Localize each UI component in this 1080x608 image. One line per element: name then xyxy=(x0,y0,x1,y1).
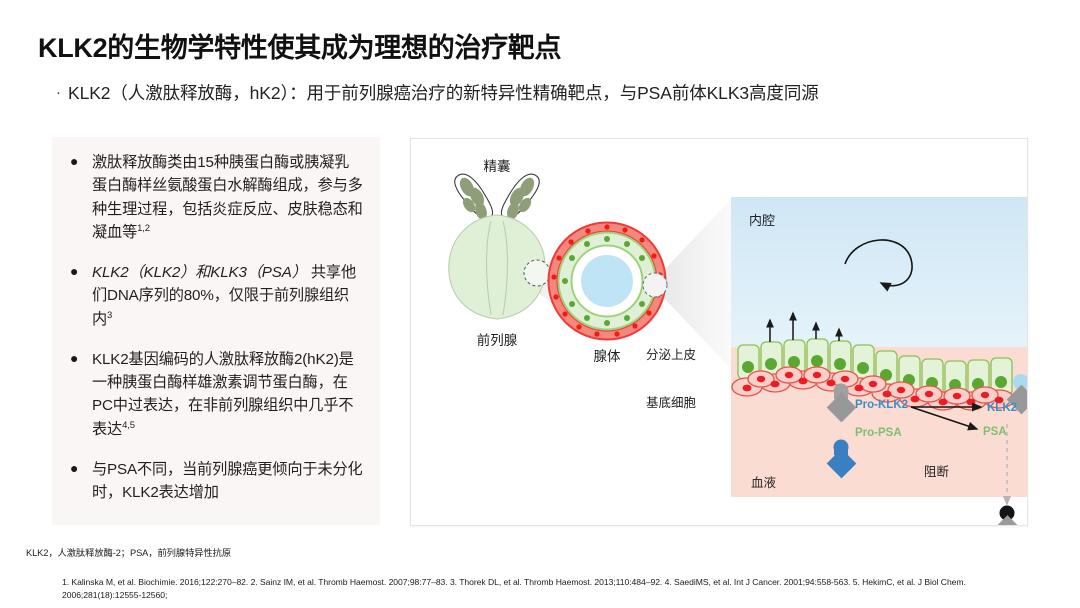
label-gland: 腺体 xyxy=(594,349,622,364)
bullet-text-hk2-expression: KLK2基因编码的人激肽释放酶2(hK2)是一种胰蛋白酶样雄激素调节蛋白酶，在P… xyxy=(92,351,354,438)
label-seminal-vesicle: 精囊 xyxy=(484,158,511,174)
bullet-marker-icon: ● xyxy=(70,151,78,173)
bullet-marker-icon: ● xyxy=(70,458,78,480)
list-item: ● KLK2基因编码的人激肽释放酶2(hK2)是一种胰蛋白酶样雄激素调节蛋白酶，… xyxy=(62,348,364,441)
list-item: ● 与PSA不同，当前列腺癌更倾向于未分化时，KLK2表达增加 xyxy=(62,458,364,505)
subtitle-bullet-row: · KLK2（人激肽释放酶，hK2）：用于前列腺癌治疗的新特异性精确靶点，与PS… xyxy=(56,80,819,105)
prostate-zoom-locator xyxy=(524,260,550,286)
label-prostate: 前列腺 xyxy=(477,332,518,348)
gland-cross-section xyxy=(551,224,667,336)
label-blood: 血液 xyxy=(751,475,777,490)
bullet-dot-icon: · xyxy=(56,85,61,100)
prostate-biology-diagram: 精囊 前列腺 腺体 内腔 Pro-KLK2 Pro-PSA KLK2 PSA 分… xyxy=(410,138,1028,526)
list-item: ● 激肽释放酶类由15种胰蛋白酶或胰凝乳蛋白酶样丝氨酸蛋白水解酶组成，参与多种生… xyxy=(62,151,364,244)
abbreviations-note: KLK2，人激肽释放酶-2；PSA，前列腺特异性抗原 xyxy=(26,545,231,559)
bullet-marker-icon: ● xyxy=(70,261,78,283)
klk2-in-blood-molecule xyxy=(994,506,1021,526)
label-blocked: 阻断 xyxy=(924,464,949,479)
bullet-text-klk2-vs-psa: 与PSA不同，当前列腺癌更倾向于未分化时，KLK2表达增加 xyxy=(92,461,363,501)
seminal-vesicle-illustration xyxy=(455,174,540,221)
label-basal-cells: 基底细胞 xyxy=(646,395,697,410)
gland-zoom-locator xyxy=(643,273,667,297)
label-pro-psa: Pro-PSA xyxy=(855,427,902,439)
label-secretory-epithelium: 分泌上皮 xyxy=(646,348,696,362)
label-pro-klk2: Pro-KLK2 xyxy=(855,399,908,411)
label-psa: PSA xyxy=(983,426,1007,438)
label-lumen: 内腔 xyxy=(749,213,775,228)
references-note: 1. Kalinska M, et al. Biochimie. 2016;12… xyxy=(62,576,1022,602)
bullet-text-kallikrein-family: 激肽释放酶类由15种胰蛋白酶或胰凝乳蛋白酶样丝氨酸蛋白水解酶组成，参与多种生理过… xyxy=(92,154,363,241)
prostate-illustration xyxy=(449,215,550,319)
diagram-svg: 精囊 前列腺 腺体 内腔 Pro-KLK2 Pro-PSA KLK2 PSA 分… xyxy=(411,139,1027,525)
page-title: KLK2的生物学特性使其成为理想的治疗靶点 xyxy=(38,26,561,65)
list-item: ● KLK2（KLK2）和KLK3（PSA） 共享他们DNA序列的80%，仅限于… xyxy=(62,261,364,331)
bullet-text-klk2-klk3-homology: KLK2（KLK2）和KLK3（PSA） 共享他们DNA序列的80%，仅限于前列… xyxy=(92,264,356,328)
bullet-list: ● 激肽释放酶类由15种胰蛋白酶或胰凝乳蛋白酶样丝氨酸蛋白水解酶组成，参与多种生… xyxy=(62,151,364,504)
bullet-marker-icon: ● xyxy=(70,348,78,370)
key-points-panel: ● 激肽释放酶类由15种胰蛋白酶或胰凝乳蛋白酶样丝氨酸蛋白水解酶组成，参与多种生… xyxy=(52,137,380,525)
subtitle-text: KLK2（人激肽释放酶，hK2）：用于前列腺癌治疗的新特异性精确靶点，与PSA前… xyxy=(68,80,819,105)
label-klk2: KLK2 xyxy=(987,402,1017,414)
